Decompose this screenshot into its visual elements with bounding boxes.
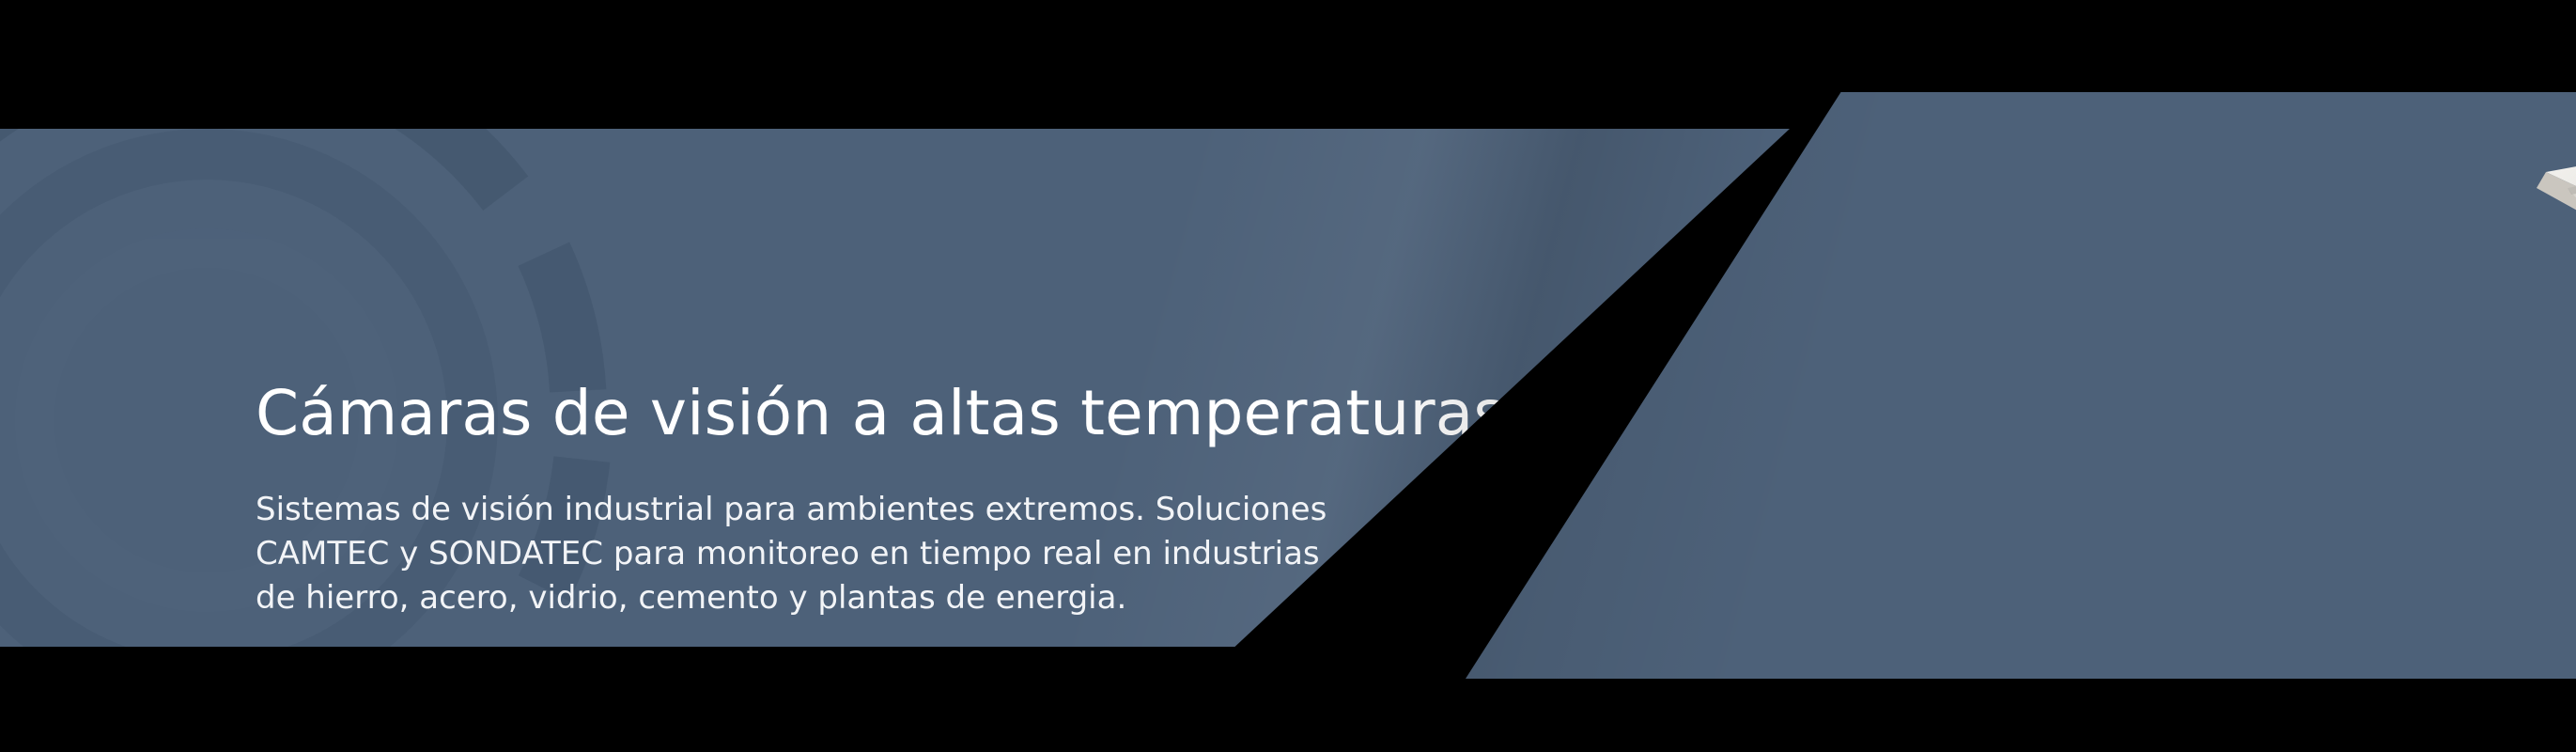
page-title: Cámaras de visión a altas temperaturas bbox=[256, 381, 1590, 446]
banner-stage: Cámaras de visión a altas temperaturas S… bbox=[0, 0, 2576, 752]
product-image: tecnovision bbox=[2494, 102, 2576, 679]
subtitle-line-3: de hierro, acero, vidrio, cemento y plan… bbox=[256, 576, 1590, 620]
page-subtitle: Sistemas de visión industrial para ambie… bbox=[256, 488, 1590, 620]
subtitle-line-2: CAMTEC y SONDATEC para monitoreo en tiem… bbox=[256, 532, 1590, 576]
subtitle-line-1: Sistemas de visión industrial para ambie… bbox=[256, 488, 1590, 532]
copy-block: Cámaras de visión a altas temperaturas S… bbox=[256, 381, 1590, 620]
camera-sun-hood bbox=[2537, 125, 2576, 243]
left-content-panel: Cámaras de visión a altas temperaturas S… bbox=[0, 129, 1790, 647]
